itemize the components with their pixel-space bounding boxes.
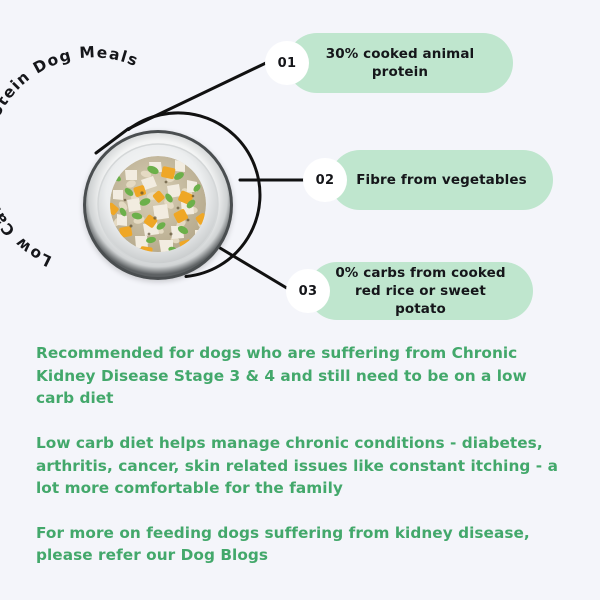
callout-item-03[interactable]: 0% carbs from cooked red rice or sweet p… xyxy=(308,262,533,320)
callout-badge-02[interactable]: 02 xyxy=(303,158,347,202)
callout-box-02[interactable]: Fibre from vegetables xyxy=(330,150,553,210)
paragraph-1: Recommended for dogs who are suffering f… xyxy=(36,342,564,410)
description-block: Recommended for dogs who are suffering f… xyxy=(36,342,564,567)
callout-badge-01[interactable]: 01 xyxy=(265,41,309,85)
callout-text-03: 0% carbs from cooked red rice or sweet p… xyxy=(334,264,507,319)
paragraph-3: For more on feeding dogs suffering from … xyxy=(36,522,564,567)
connector-line-03 xyxy=(220,248,290,290)
dog-food-bowl-image xyxy=(83,130,233,280)
paragraph-2: Low carb diet helps manage chronic condi… xyxy=(36,432,564,500)
callout-box-03[interactable]: 0% carbs from cooked red rice or sweet p… xyxy=(308,262,533,320)
infographic-root: Low Carb Low Protein Dog Meals xyxy=(0,0,600,600)
callout-item-02[interactable]: Fibre from vegetables xyxy=(330,150,553,210)
callout-text-01: 30% cooked animal protein xyxy=(313,45,487,81)
callout-item-01[interactable]: 30% cooked animal protein xyxy=(287,33,513,93)
callout-badge-03[interactable]: 03 xyxy=(286,269,330,313)
callout-text-02: Fibre from vegetables xyxy=(356,171,527,189)
hero-section: Low Carb Low Protein Dog Meals xyxy=(0,0,600,340)
callout-box-01[interactable]: 30% cooked animal protein xyxy=(287,33,513,93)
